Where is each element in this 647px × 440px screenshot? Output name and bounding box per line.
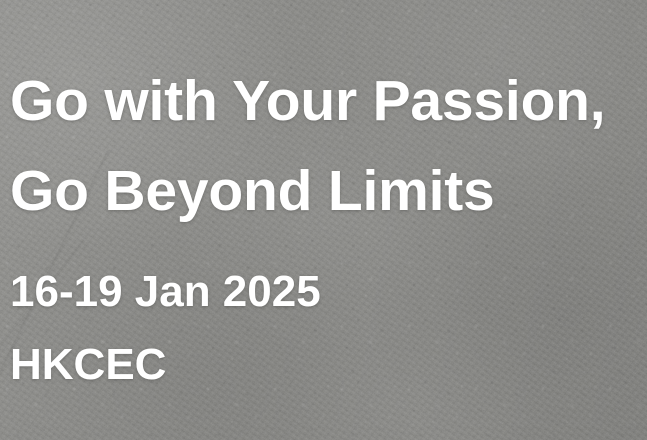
banner-details: 16-19 Jan 2025 HKCEC xyxy=(10,255,321,401)
headline-line-1: Go with Your Passion, xyxy=(10,56,605,146)
headline-line-2: Go Beyond Limits xyxy=(10,146,605,236)
banner-headline: Go with Your Passion, Go Beyond Limits xyxy=(10,56,605,236)
event-banner: Go with Your Passion, Go Beyond Limits 1… xyxy=(0,0,647,440)
event-venue: HKCEC xyxy=(10,328,321,401)
event-dates: 16-19 Jan 2025 xyxy=(10,255,321,328)
banner-content: Go with Your Passion, Go Beyond Limits 1… xyxy=(0,0,647,440)
